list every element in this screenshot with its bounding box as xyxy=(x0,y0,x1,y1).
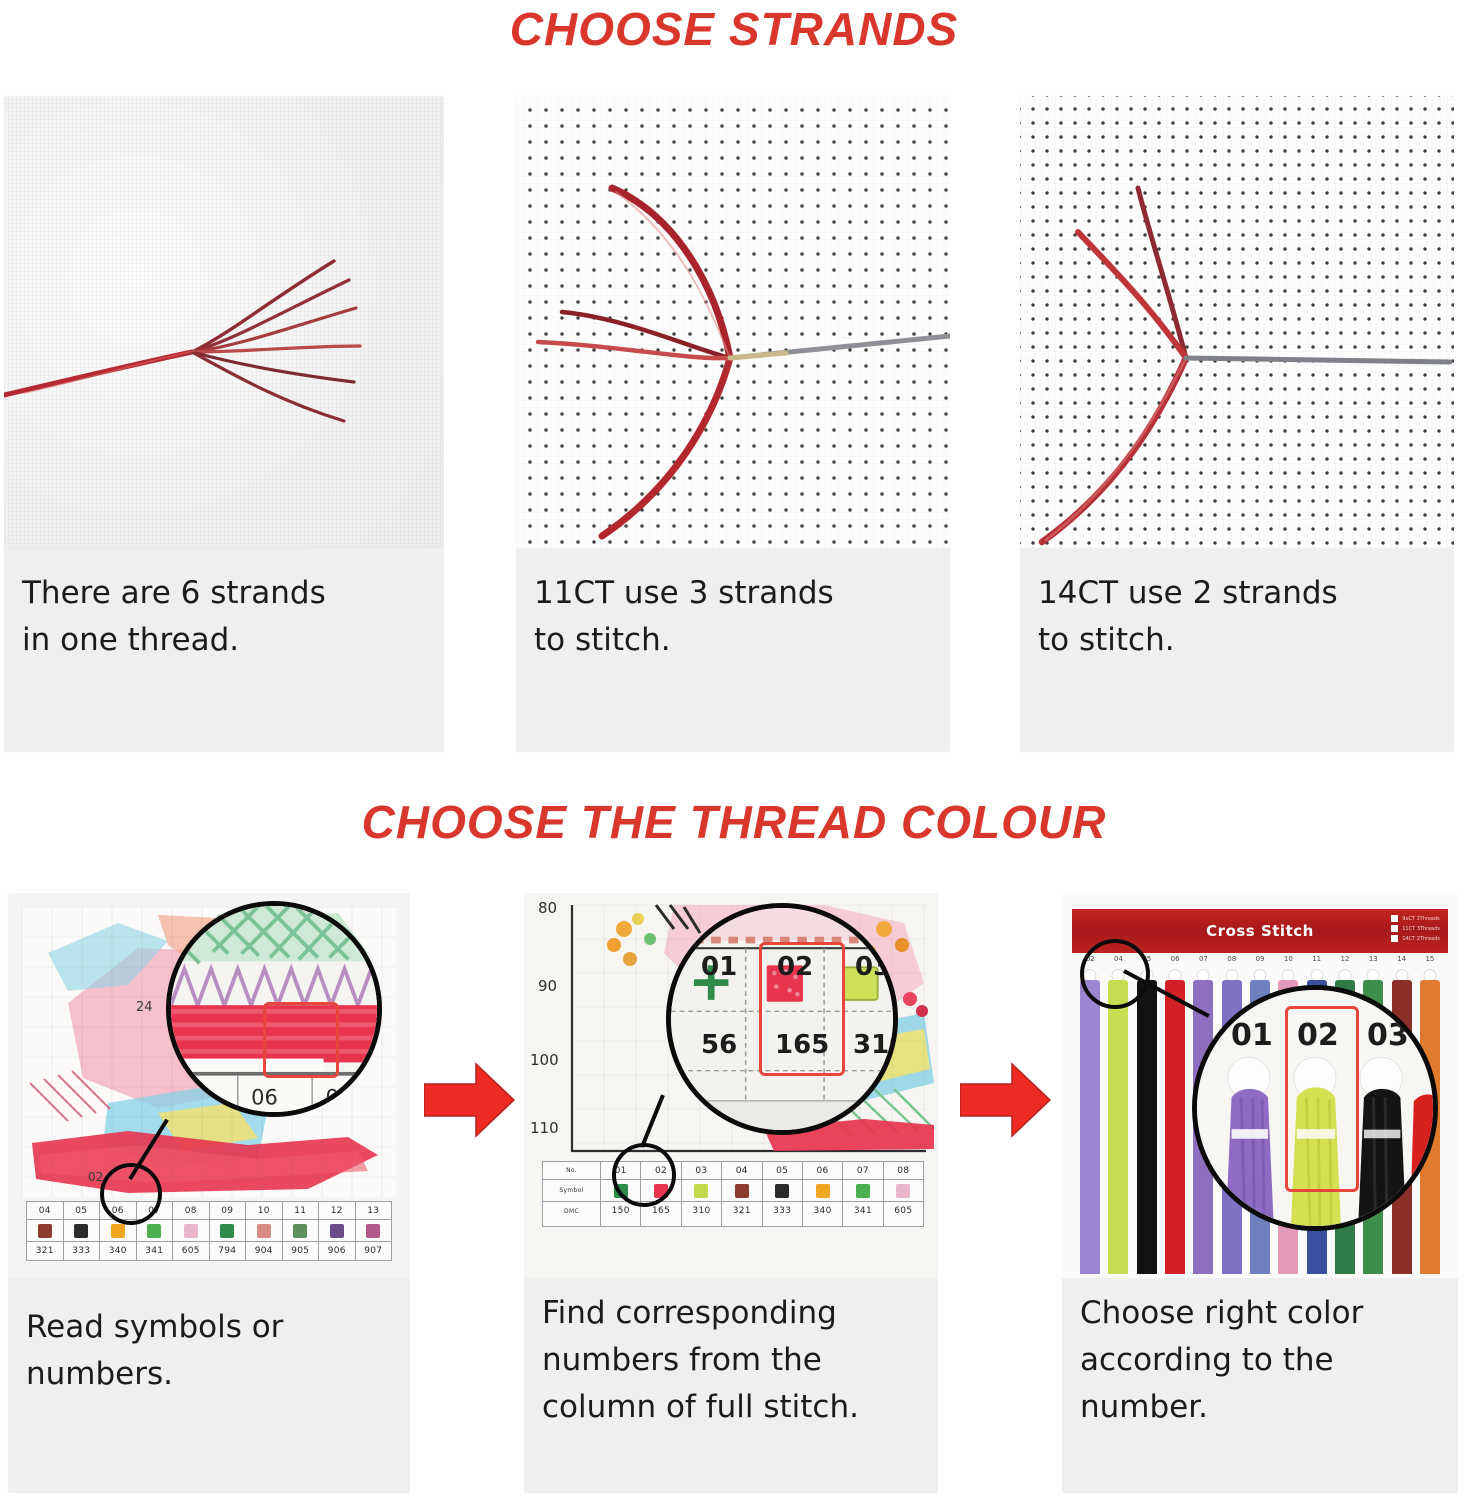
legend-row-label: No. xyxy=(543,1162,600,1180)
caption-line: number. xyxy=(1080,1384,1440,1431)
colour-card-read-symbols-photo: 24 02 0432105333063400734108605097941090… xyxy=(8,893,410,1278)
legend-column[interactable]: 06340 xyxy=(803,1162,843,1226)
checkbox-label: 11CT 3Threads xyxy=(1402,926,1440,932)
legend-row-label: Symbol xyxy=(543,1180,600,1202)
three-strands-needle-illustration xyxy=(516,96,950,548)
legend-row-label-column: No.SymbolDMC xyxy=(543,1162,601,1226)
legend-dmc-number: 333 xyxy=(763,1202,802,1220)
magnified-skein-number: 03 xyxy=(1367,1018,1409,1053)
strand-card-14ct: 14CT use 2 strands to stitch. xyxy=(1020,96,1454,752)
legend-dmc-number: 904 xyxy=(246,1242,282,1260)
caption-line: Read symbols or xyxy=(26,1304,392,1351)
magnified-column-label: 03 xyxy=(855,952,891,982)
legend-column-number: 06 xyxy=(803,1162,842,1180)
floss-skein-number: 09 xyxy=(1246,955,1274,969)
legend-symbol-swatch xyxy=(884,1180,923,1202)
legend-symbol-swatch xyxy=(210,1220,246,1242)
symbol-swatch-icon xyxy=(366,1224,380,1238)
caption-line: numbers. xyxy=(26,1351,392,1398)
legend-symbol-swatch xyxy=(763,1180,802,1202)
arrow-right-icon-1 xyxy=(424,1058,516,1142)
symbol-swatch-icon xyxy=(111,1224,125,1238)
symbol-swatch-icon xyxy=(694,1184,708,1198)
strand-card-14ct-photo xyxy=(1020,96,1454,548)
legend-symbol-swatch xyxy=(27,1220,63,1242)
caption-line: numbers from the xyxy=(542,1337,920,1384)
skein-floss-bundle xyxy=(1137,980,1157,1274)
symbol-swatch-icon xyxy=(293,1224,307,1238)
symbol-swatch-icon xyxy=(74,1224,88,1238)
highlight-box-3 xyxy=(1285,1006,1359,1192)
legend-column[interactable]: 08605 xyxy=(884,1162,923,1226)
floss-card-title: Cross Stitch xyxy=(1206,922,1314,940)
legend-column[interactable]: 04321 xyxy=(27,1202,64,1260)
legend-symbol-swatch xyxy=(246,1220,282,1242)
strand-card-11ct-photo xyxy=(516,96,950,548)
colour-card-choose-colour: Cross Stitch 9xCT 3Threads 11CT 3Threads… xyxy=(1062,893,1458,1493)
symbol-swatch-icon xyxy=(856,1184,870,1198)
svg-text:80: 80 xyxy=(538,899,557,917)
legend-dmc-number: 321 xyxy=(27,1242,63,1260)
symbol-swatch-icon xyxy=(896,1184,910,1198)
legend-column-number: 11 xyxy=(283,1202,319,1220)
symbol-swatch-icon xyxy=(775,1184,789,1198)
symbol-swatch-icon xyxy=(184,1224,198,1238)
legend-column-number: 05 xyxy=(763,1162,802,1180)
legend-column[interactable]: 05333 xyxy=(64,1202,101,1260)
legend-column-number: 13 xyxy=(356,1202,392,1220)
legend-dmc-number: 907 xyxy=(356,1242,392,1260)
legend-column-number: 09 xyxy=(210,1202,246,1220)
highlight-box-1 xyxy=(263,1002,339,1078)
highlight-box-2 xyxy=(759,942,845,1076)
legend-column-number: 12 xyxy=(319,1202,355,1220)
strand-card-6-strands: There are 6 strands in one thread. xyxy=(4,96,444,752)
strand-card-6-strands-caption: There are 6 strands in one thread. xyxy=(4,548,444,752)
legend-column-number: 10 xyxy=(246,1202,282,1220)
legend-column[interactable]: 10904 xyxy=(246,1202,283,1260)
floss-card-checkbox-row[interactable]: 11CT 3Threads xyxy=(1391,925,1440,932)
floss-skein[interactable] xyxy=(1076,969,1104,1274)
legend-symbol-swatch xyxy=(173,1220,209,1242)
colour-card-find-numbers-caption: Find corresponding numbers from the colu… xyxy=(524,1278,938,1493)
caption-line: column of full stitch. xyxy=(542,1384,920,1431)
svg-text:90: 90 xyxy=(538,977,557,995)
legend-column[interactable]: 05333 xyxy=(763,1162,803,1226)
legend-column[interactable]: 13907 xyxy=(356,1202,392,1260)
caption-line: 11CT use 3 strands xyxy=(534,570,932,617)
legend-symbol-swatch xyxy=(722,1180,761,1202)
symbol-swatch-icon xyxy=(38,1224,52,1238)
floss-skein[interactable] xyxy=(1104,969,1132,1274)
strand-card-14ct-caption: 14CT use 2 strands to stitch. xyxy=(1020,548,1454,752)
legend-dmc-number: 905 xyxy=(283,1242,319,1260)
floss-card-checkbox-group: 9xCT 3Threads 11CT 3Threads 14CT 2Thread… xyxy=(1391,915,1440,942)
caption-line: in one thread. xyxy=(22,617,426,664)
magnifier-lens-1: 06 07 xyxy=(166,901,382,1117)
legend-dmc-number: 321 xyxy=(722,1202,761,1220)
strand-card-11ct-caption: 11CT use 3 strands to stitch. xyxy=(516,548,950,752)
floss-skein-number: 12 xyxy=(1331,955,1359,969)
legend-column-number: 05 xyxy=(64,1202,100,1220)
floss-skein-number: 14 xyxy=(1387,955,1415,969)
legend-column[interactable]: 03310 xyxy=(682,1162,722,1226)
svg-text:07: 07 xyxy=(326,1085,353,1109)
checkbox-icon[interactable] xyxy=(1391,935,1398,942)
legend-column[interactable]: 04321 xyxy=(722,1162,762,1226)
legend-dmc-number: 340 xyxy=(100,1242,136,1260)
checkbox-icon[interactable] xyxy=(1391,915,1398,922)
colour-card-choose-colour-photo: Cross Stitch 9xCT 3Threads 11CT 3Threads… xyxy=(1062,893,1458,1278)
needle-shaft xyxy=(1186,358,1450,362)
legend-dmc-number: 794 xyxy=(210,1242,246,1260)
magnifier-lens-2: 01 02 03 56 165 310 xyxy=(666,903,898,1135)
colour-card-read-symbols-caption: Read symbols or numbers. xyxy=(8,1278,410,1493)
magnifier-target-circle-1 xyxy=(100,1163,162,1225)
floss-skein-number: 06 xyxy=(1161,955,1189,969)
magnified-dmc-label: 56 xyxy=(701,1030,737,1060)
arrow-right-icon-2 xyxy=(960,1058,1052,1142)
legend-column-number: 07 xyxy=(843,1162,882,1180)
section-title-choose-strands: CHOOSE STRANDS xyxy=(0,2,1468,56)
legend-symbol-swatch xyxy=(682,1180,721,1202)
legend-column-number: 04 xyxy=(27,1202,63,1220)
legend-column[interactable]: 12906 xyxy=(319,1202,356,1260)
floss-skein-number: 07 xyxy=(1189,955,1217,969)
section-title-choose-thread-colour: CHOOSE THE THREAD COLOUR xyxy=(0,795,1468,849)
floss-card-checkbox-row[interactable]: 14CT 2Threads xyxy=(1391,935,1440,942)
legend-symbol-swatch xyxy=(319,1220,355,1242)
legend-column[interactable]: 08605 xyxy=(173,1202,210,1260)
legend-dmc-number: 341 xyxy=(843,1202,882,1220)
legend-dmc-number: 333 xyxy=(64,1242,100,1260)
svg-text:100: 100 xyxy=(530,1051,559,1069)
caption-line: Find corresponding xyxy=(542,1290,920,1337)
legend-symbol-swatch xyxy=(803,1180,842,1202)
legend-dmc-number: 310 xyxy=(682,1202,721,1220)
legend-column-number: 08 xyxy=(173,1202,209,1220)
magnified-skein-number: 01 xyxy=(1231,1018,1273,1053)
legend-column[interactable]: 11905 xyxy=(283,1202,320,1260)
legend-dmc-number: 340 xyxy=(803,1202,842,1220)
checkbox-label: 9xCT 3Threads xyxy=(1402,916,1440,922)
symbol-legend-table-2: No.SymbolDMC0115002165033100432105333063… xyxy=(542,1161,924,1227)
floss-skein-number: 13 xyxy=(1359,955,1387,969)
magnifier-target-circle-3 xyxy=(1080,939,1150,1009)
caption-line: 14CT use 2 strands xyxy=(1038,570,1436,617)
symbol-swatch-icon xyxy=(220,1224,234,1238)
symbol-swatch-icon xyxy=(330,1224,344,1238)
colour-card-read-symbols: 24 02 0432105333063400734108605097941090… xyxy=(8,893,410,1493)
legend-dmc-number: 906 xyxy=(319,1242,355,1260)
checkbox-label: 14CT 2Threads xyxy=(1402,936,1440,942)
colour-card-choose-colour-caption: Choose right color according to the numb… xyxy=(1062,1278,1458,1493)
skein-floss-bundle xyxy=(1080,980,1100,1274)
symbol-swatch-icon xyxy=(816,1184,830,1198)
caption-line: There are 6 strands xyxy=(22,570,426,617)
legend-column[interactable]: 09794 xyxy=(210,1202,247,1260)
symbol-swatch-icon xyxy=(257,1224,271,1238)
floss-skein[interactable] xyxy=(1161,969,1189,1274)
six-strands-illustration xyxy=(4,96,444,548)
magnifier-lens-3: 01 02 03 xyxy=(1192,985,1438,1231)
caption-line: to stitch. xyxy=(534,617,932,664)
two-strands-needle-illustration xyxy=(1020,96,1454,548)
svg-text:06: 06 xyxy=(251,1085,278,1109)
strand-card-11ct: 11CT use 3 strands to stitch. xyxy=(516,96,950,752)
colour-card-find-numbers-photo: 80 90 100 110 No.SymbolDMC01150021650331… xyxy=(524,893,938,1278)
strand-card-6-strands-photo xyxy=(4,96,444,548)
legend-symbol-swatch xyxy=(356,1220,392,1242)
legend-dmc-number: 341 xyxy=(137,1242,173,1260)
instruction-infographic: CHOOSE STRANDS There are 6 strands in o xyxy=(0,0,1468,1500)
symbol-swatch-icon xyxy=(147,1224,161,1238)
legend-column[interactable]: 07341 xyxy=(843,1162,883,1226)
legend-row-label: DMC xyxy=(543,1202,600,1220)
floss-skein-number: 15 xyxy=(1416,955,1444,969)
legend-column-number: 03 xyxy=(682,1162,721,1180)
checkbox-icon[interactable] xyxy=(1391,925,1398,932)
symbol-legend-table-1: 0432105333063400734108605097941090411905… xyxy=(26,1201,392,1261)
magnified-column-label: 01 xyxy=(701,952,737,982)
floss-skein-number: 11 xyxy=(1303,955,1331,969)
floss-skein-number: 08 xyxy=(1218,955,1246,969)
symbol-swatch-icon xyxy=(735,1184,749,1198)
magnified-dmc-label: 310 xyxy=(853,1030,898,1060)
legend-column-number: 08 xyxy=(884,1162,923,1180)
legend-column-number: 04 xyxy=(722,1162,761,1180)
legend-dmc-number: 605 xyxy=(173,1242,209,1260)
caption-line: Choose right color xyxy=(1080,1290,1440,1337)
skein-floss-bundle xyxy=(1108,980,1128,1274)
floss-card-checkbox-row[interactable]: 9xCT 3Threads xyxy=(1391,915,1440,922)
legend-symbol-swatch xyxy=(137,1220,173,1242)
magnifier-target-circle-2 xyxy=(612,1143,676,1207)
legend-dmc-number: 605 xyxy=(884,1202,923,1220)
floss-skein[interactable] xyxy=(1133,969,1161,1274)
svg-text:110: 110 xyxy=(530,1119,559,1137)
caption-line: to stitch. xyxy=(1038,617,1436,664)
svg-text:24: 24 xyxy=(136,1000,153,1015)
skein-floss-bundle xyxy=(1165,980,1185,1274)
legend-symbol-swatch xyxy=(843,1180,882,1202)
legend-symbol-swatch xyxy=(283,1220,319,1242)
floss-skein-number: 10 xyxy=(1274,955,1302,969)
legend-symbol-swatch xyxy=(64,1220,100,1242)
caption-line: according to the xyxy=(1080,1337,1440,1384)
colour-card-find-numbers: 80 90 100 110 No.SymbolDMC01150021650331… xyxy=(524,893,938,1493)
